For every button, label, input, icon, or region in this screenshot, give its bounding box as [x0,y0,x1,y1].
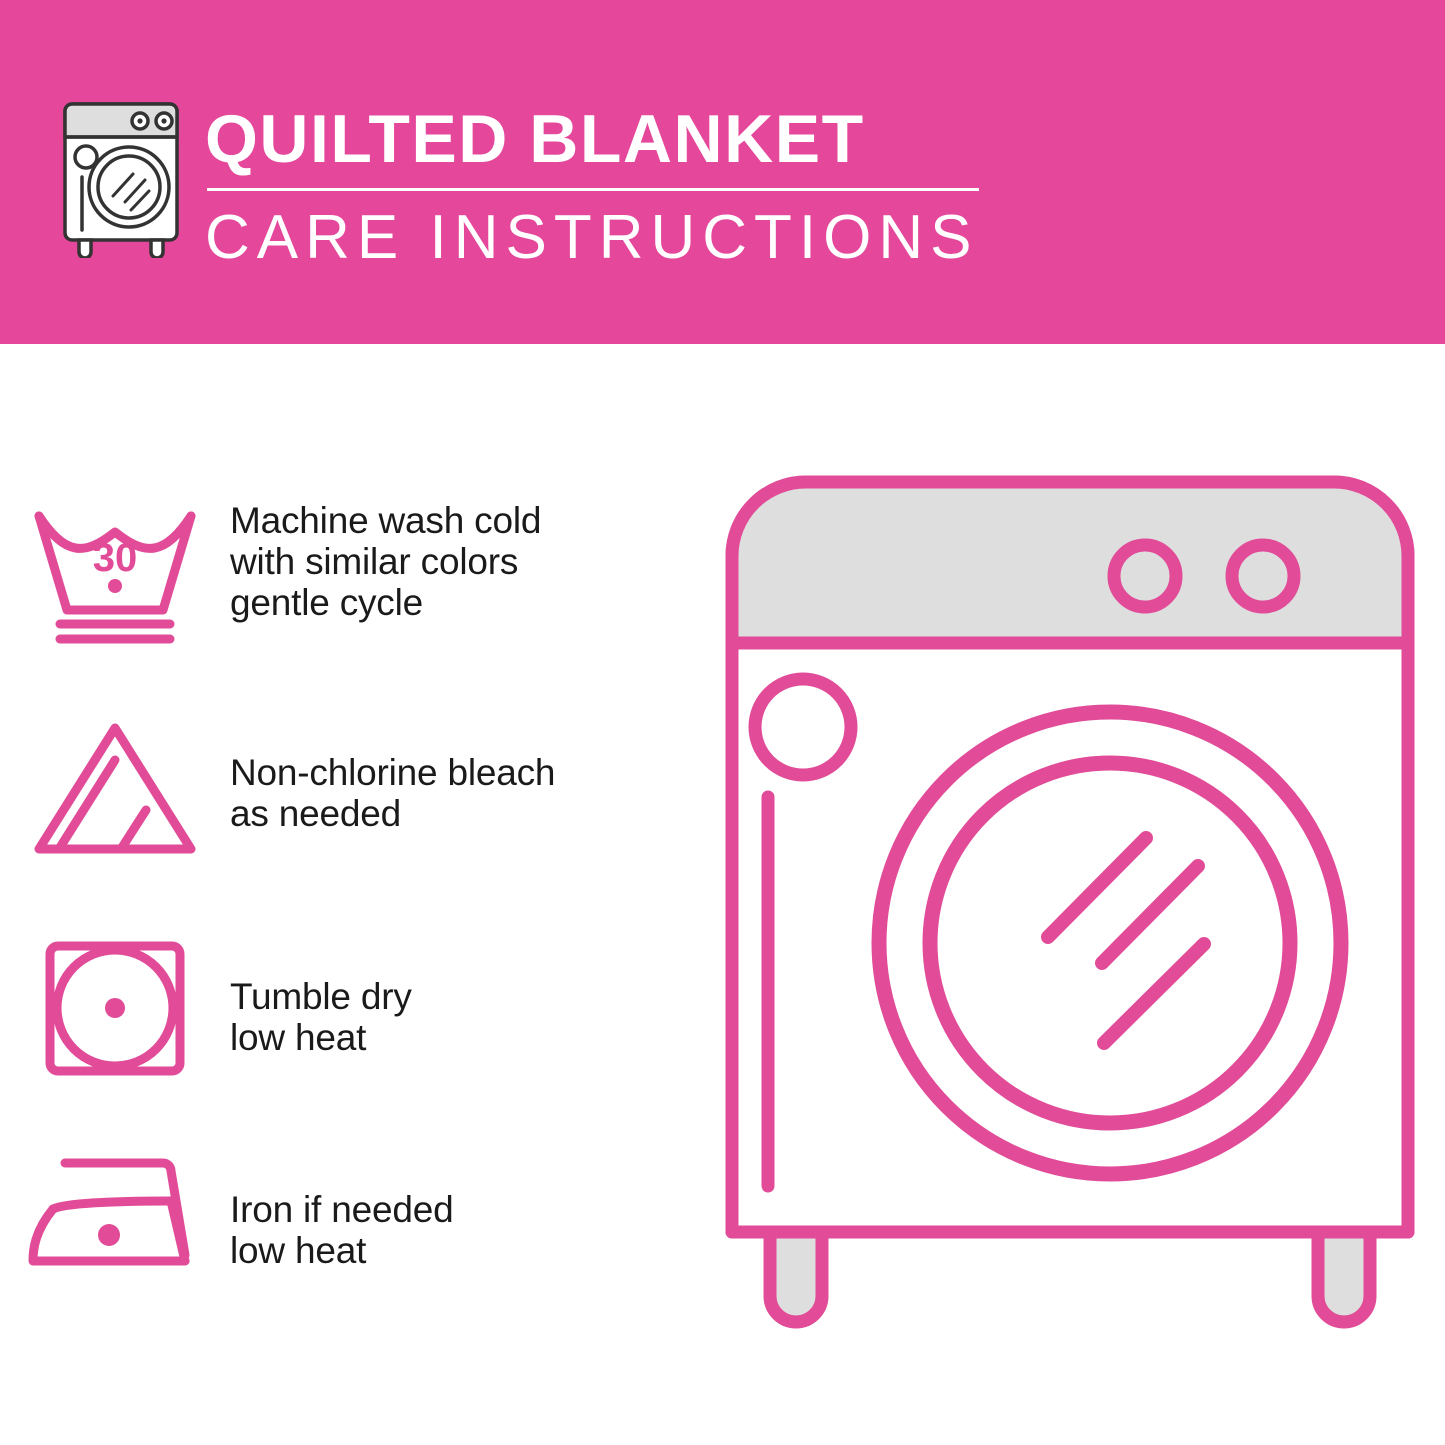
title-divider [207,188,979,191]
care-row-iron: Iron if needed low heat [0,1149,700,1281]
care-label-tumble-dry: Tumble dry low heat [230,934,412,1058]
machine-wash-30-gentle-icon: 30 [0,496,230,648]
care-label-line: Machine wash cold [230,500,541,541]
care-label-line: Non-chlorine bleach [230,752,555,793]
care-row-machine-wash: 30 Machine wash cold with similar colors… [0,496,700,648]
page-subtitle: CARE INSTRUCTIONS [205,203,1005,273]
header-banner: QUILTED BLANKET CARE INSTRUCTIONS [0,0,1445,344]
care-label-line: Tumble dry [230,976,412,1017]
care-row-bleach: Non-chlorine bleach as needed [0,714,700,866]
machine-control-panel [732,482,1408,643]
machine-door-inner-ring [930,763,1290,1123]
care-label-bleach: Non-chlorine bleach as needed [230,714,555,834]
care-label-line: gentle cycle [230,582,541,623]
tumble-dry-low-icon [0,934,230,1081]
care-label-line: low heat [230,1017,412,1058]
machine-leg-right [1318,1228,1370,1322]
non-chlorine-bleach-icon [0,714,230,866]
page-title: QUILTED BLANKET [205,100,1005,178]
machine-knob-left [1114,545,1176,607]
care-label-iron: Iron if needed low heat [230,1149,453,1271]
header-title-block: QUILTED BLANKET CARE INSTRUCTIONS [205,100,1005,273]
care-row-tumble-dry: Tumble dry low heat [0,934,700,1081]
care-label-line: as needed [230,793,555,834]
machine-dispenser-circle [755,679,851,775]
washing-machine-icon [57,98,192,258]
care-label-line: low heat [230,1230,453,1271]
machine-leg-left [770,1228,822,1322]
iron-low-heat-icon [0,1149,230,1281]
care-label-machine-wash: Machine wash cold with similar colors ge… [230,496,541,623]
care-instructions-page: QUILTED BLANKET CARE INSTRUCTIONS [0,0,1445,1445]
care-label-line: with similar colors [230,541,541,582]
care-label-line: Iron if needed [230,1189,453,1230]
wash-temperature-value: 30 [93,536,138,580]
care-instruction-list: 30 Machine wash cold with similar colors… [0,344,700,1445]
front-load-washing-machine-illustration [710,460,1430,1380]
machine-knob-right [1232,545,1294,607]
